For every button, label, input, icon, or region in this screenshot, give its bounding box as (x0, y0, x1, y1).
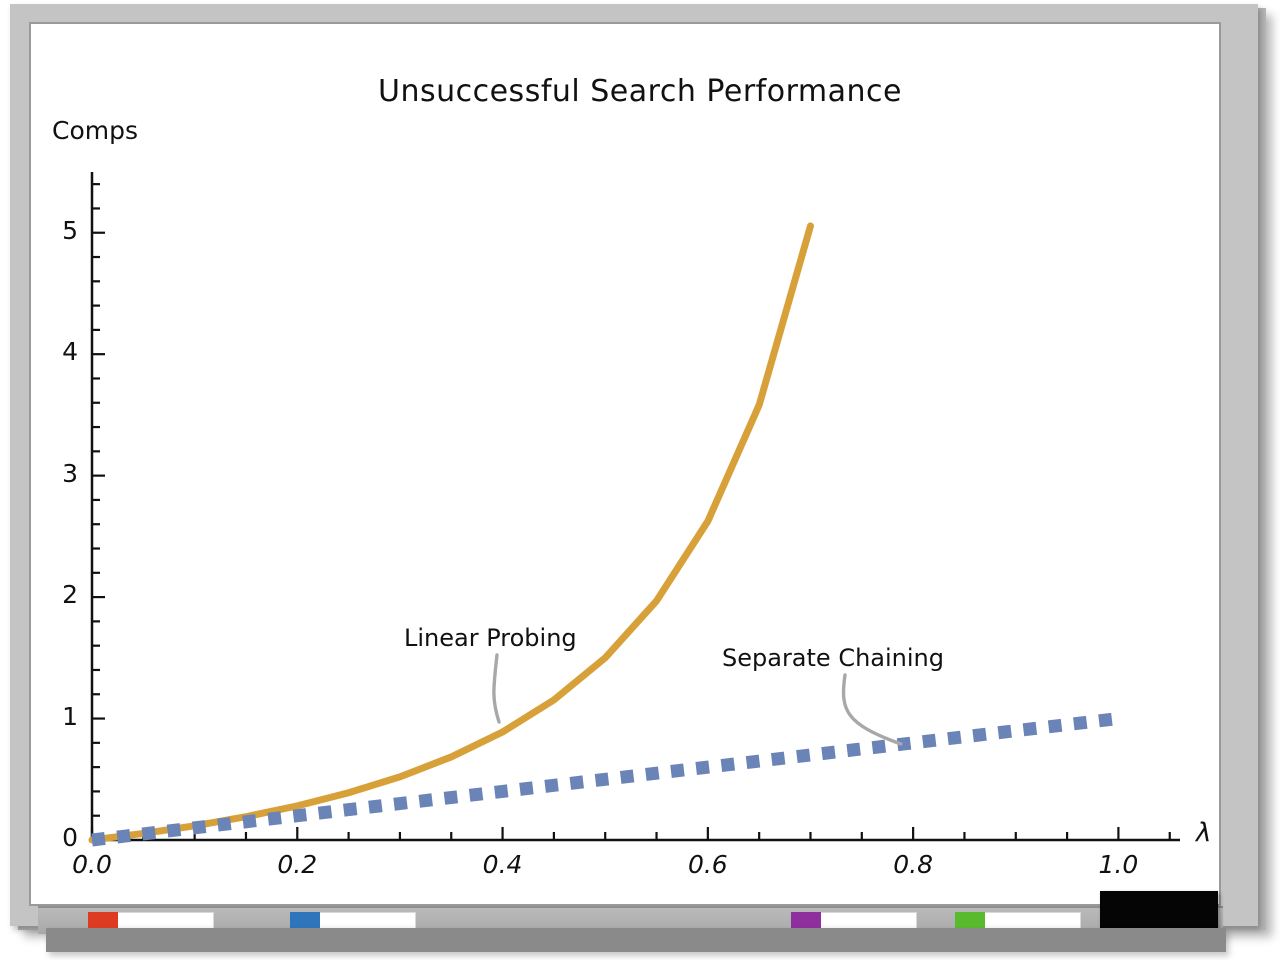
chart-canvas (0, 0, 1280, 960)
y-tick-label: 2 (38, 580, 78, 609)
series-linear-probing (92, 226, 810, 840)
series-separate-chaining (92, 719, 1118, 840)
x-tick-label: 0.6 (668, 850, 748, 879)
annotation-separate-chaining: Separate Chaining (722, 644, 944, 672)
leader-line-separate-chaining (844, 675, 901, 744)
tray-front (46, 928, 1226, 952)
y-tick-label: 1 (38, 702, 78, 731)
x-tick-label: 1.0 (1078, 850, 1158, 879)
y-tick-label: 0 (38, 823, 78, 852)
leader-line-linear-probing (494, 655, 499, 722)
x-tick-label: 0.4 (463, 850, 543, 879)
series-layer (92, 226, 1118, 840)
y-tick-label: 3 (38, 459, 78, 488)
y-tick-label: 5 (38, 216, 78, 245)
axes (92, 172, 1180, 840)
whiteboard-scene: Unsuccessful Search Performance Comps λ … (0, 0, 1280, 960)
x-tick-label: 0.0 (52, 850, 132, 879)
x-tick-label: 0.8 (873, 850, 953, 879)
axis-ticks (92, 184, 1170, 840)
x-tick-label: 0.2 (257, 850, 337, 879)
annotation-linear-probing: Linear Probing (404, 624, 577, 652)
y-tick-label: 4 (38, 337, 78, 366)
